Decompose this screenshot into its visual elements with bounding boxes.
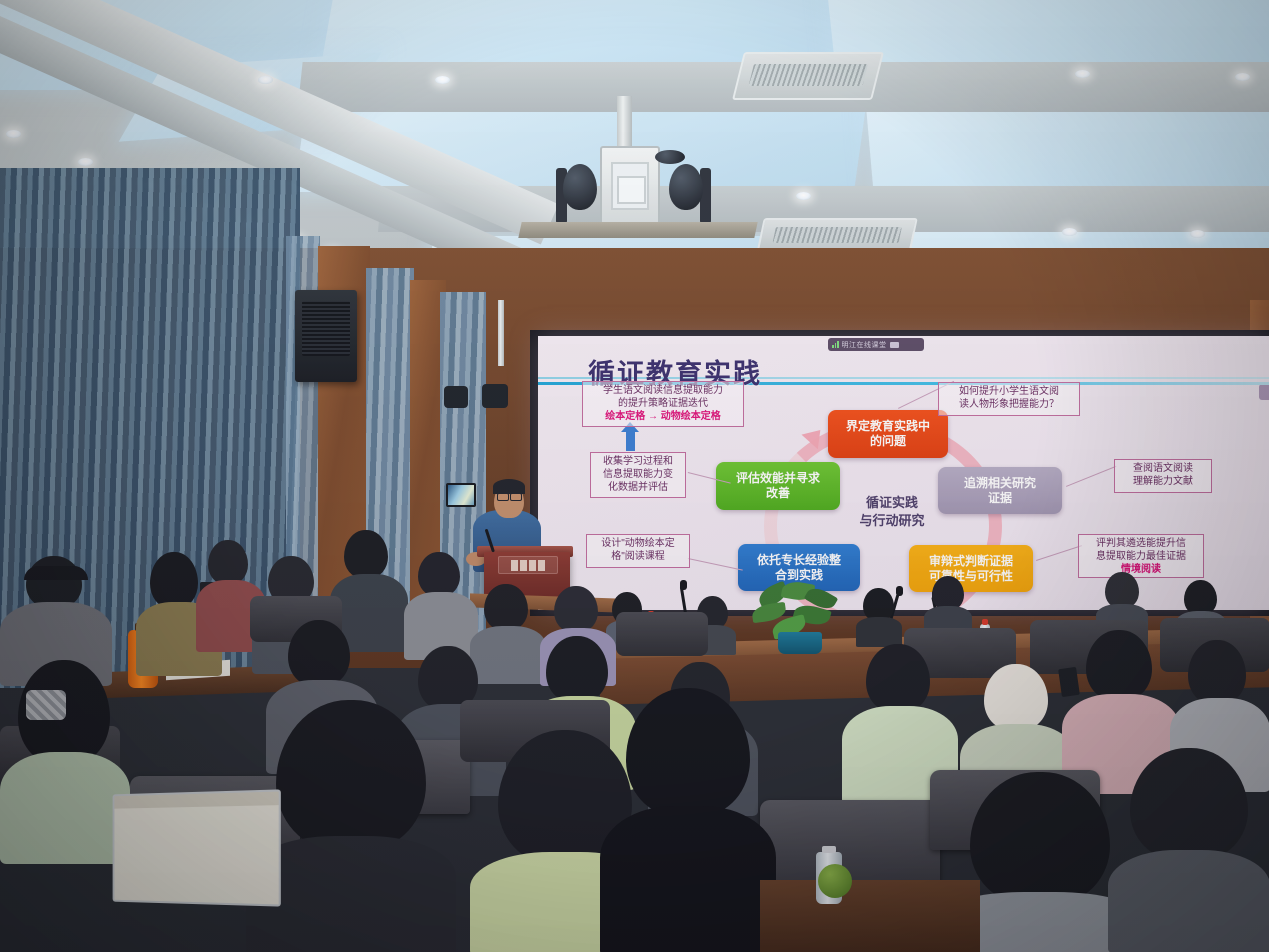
downlight-right-b: [1235, 73, 1250, 81]
callout-literature: 查阅语文阅读 理解能力文献: [1114, 459, 1212, 493]
callout-collect-data: 收集学习过程和 信息提取能力变 化数据并评估: [590, 452, 686, 498]
smartphone-front[interactable]: [1058, 667, 1080, 697]
projector-rear-lens: [655, 150, 685, 164]
cycle-node-trace-evidence[interactable]: 追溯相关研究 证据: [938, 467, 1062, 514]
cycle-center-label-line1: 循证实践: [838, 494, 946, 512]
callout-question: 如何提升小学生语文阅 读人物形象把握能力？: [938, 382, 1080, 416]
audience-member: [404, 552, 478, 658]
callout-iteration-highlight: 绘本定格 → 动物绘本定格: [586, 410, 740, 423]
callout-question-line1: 如何提升小学生语文阅: [942, 385, 1076, 398]
cycle-node-trace-evidence-line2: 证据: [961, 491, 1039, 506]
cycle-node-integrate-practice-line2: 合到实践: [754, 568, 844, 583]
callout-question-line2: 读人物形象把握能力？: [942, 398, 1076, 411]
leader-line-best-evidence: [1036, 545, 1082, 561]
callout-best-evidence-line1: 评判其遴选能提升信: [1082, 537, 1200, 550]
audience-desk-front: [760, 880, 980, 952]
ptz-camera-right: [669, 164, 703, 210]
presenter-glasses-right: [510, 493, 522, 501]
leader-line-literature: [1066, 466, 1116, 487]
podium-nameplate-text: 泉建讲堂: [498, 556, 556, 572]
cycle-node-appraise-evidence-line1: 审辩式判断证据: [926, 554, 1016, 569]
cap-brim-icon: [24, 566, 88, 580]
presenter-glasses: [497, 493, 509, 501]
wall-speaker: [295, 290, 357, 382]
cycle-node-trace-evidence-line1: 追溯相关研究: [961, 476, 1039, 491]
downlight-center-b: [435, 76, 450, 84]
cycle-node-evaluate-improve-line1: 评估效能并寻求: [733, 471, 823, 486]
cycle-node-integrate-practice-line1: 依托专长经验整: [754, 553, 844, 568]
downlight-center-a: [258, 76, 273, 84]
laptop[interactable]: [108, 792, 278, 912]
wall-camera-right: [482, 384, 508, 408]
callout-design-course: 设计"动物绘本定 格"阅读课程: [586, 534, 690, 568]
downlight-right-d: [1190, 230, 1205, 238]
callout-iteration-line1: 学生语文阅读信息提取能力: [586, 384, 740, 397]
slide-side-tab[interactable]: [1259, 384, 1269, 400]
confidence-monitor[interactable]: [446, 483, 476, 507]
hair-clip-icon: [26, 690, 66, 720]
callout-collect-data-line3: 化数据并评估: [594, 481, 682, 494]
ptz-camera-left: [563, 164, 597, 210]
callout-iteration-line2: 的提升策略证据迭代: [586, 397, 740, 410]
cycle-node-define-problem-line1: 界定教育实践中: [843, 419, 933, 434]
wall-camera-left: [444, 386, 468, 408]
audience-member: [856, 588, 902, 646]
cycle-node-define-problem-line2: 的问题: [843, 434, 933, 449]
stream-badge-label: 明江在线课堂: [842, 340, 887, 350]
signal-bars-icon: [832, 341, 839, 348]
upward-arrow: [626, 431, 635, 451]
projector-lens-glass: [617, 176, 646, 204]
callout-literature-line2: 理解能力文献: [1118, 475, 1208, 488]
callout-literature-line1: 查阅语文阅读: [1118, 462, 1208, 475]
wall-mic-drop-pole: [498, 300, 504, 366]
projector-ceiling-plate: [518, 222, 757, 238]
camera-icon: [890, 342, 899, 348]
table-mic-3-head: [680, 580, 687, 590]
cycle-node-evaluate-improve[interactable]: 评估效能并寻求 改善: [716, 462, 840, 510]
ceiling-light-panel-mid-right: [866, 108, 1269, 196]
cycle-node-evaluate-improve-line2: 改善: [733, 486, 823, 501]
callout-collect-data-line1: 收集学习过程和: [594, 455, 682, 468]
callout-design-course-line1: 设计"动物绘本定: [590, 537, 686, 550]
callout-best-evidence-line2: 息提取能力最佳证据: [1082, 550, 1200, 563]
downlight-right-a: [1075, 70, 1090, 78]
projection-screen: 明江在线课堂 循证教育实践 界定教育实践中 的问题 追溯相关研究 证据: [538, 336, 1269, 610]
potted-plant: [748, 582, 848, 656]
downlight-right-c: [1062, 228, 1077, 236]
downlight-center-c: [796, 192, 811, 200]
seat-back: [760, 800, 940, 884]
ac-vent-upper-right: [732, 52, 884, 100]
callout-design-course-line2: 格"阅读课程: [590, 550, 686, 563]
leader-line-design-course: [688, 558, 743, 571]
cycle-center-label-line2: 与行动研究: [838, 512, 946, 530]
callout-iteration: 学生语文阅读信息提取能力 的提升策略证据迭代 绘本定格 → 动物绘本定格: [582, 381, 744, 427]
cycle-node-define-problem[interactable]: 界定教育实践中 的问题: [828, 410, 948, 458]
laptop-screen-content: [114, 792, 278, 905]
presenter-hair: [493, 479, 525, 494]
cycle-center-label: 循证实践 与行动研究: [838, 494, 946, 529]
lecture-hall-photo: 明江在线课堂 循证教育实践 界定教育实践中 的问题 追溯相关研究 证据: [0, 0, 1269, 952]
audience-member-foreground: [1108, 748, 1269, 952]
laptop-screen[interactable]: [113, 789, 281, 906]
plant-pot: [778, 632, 822, 654]
callout-collect-data-line2: 信息提取能力变: [594, 468, 682, 481]
stream-overlay-badge: 明江在线课堂: [828, 338, 924, 351]
round-object: [818, 864, 852, 898]
audience-member-foreground: [600, 688, 776, 952]
